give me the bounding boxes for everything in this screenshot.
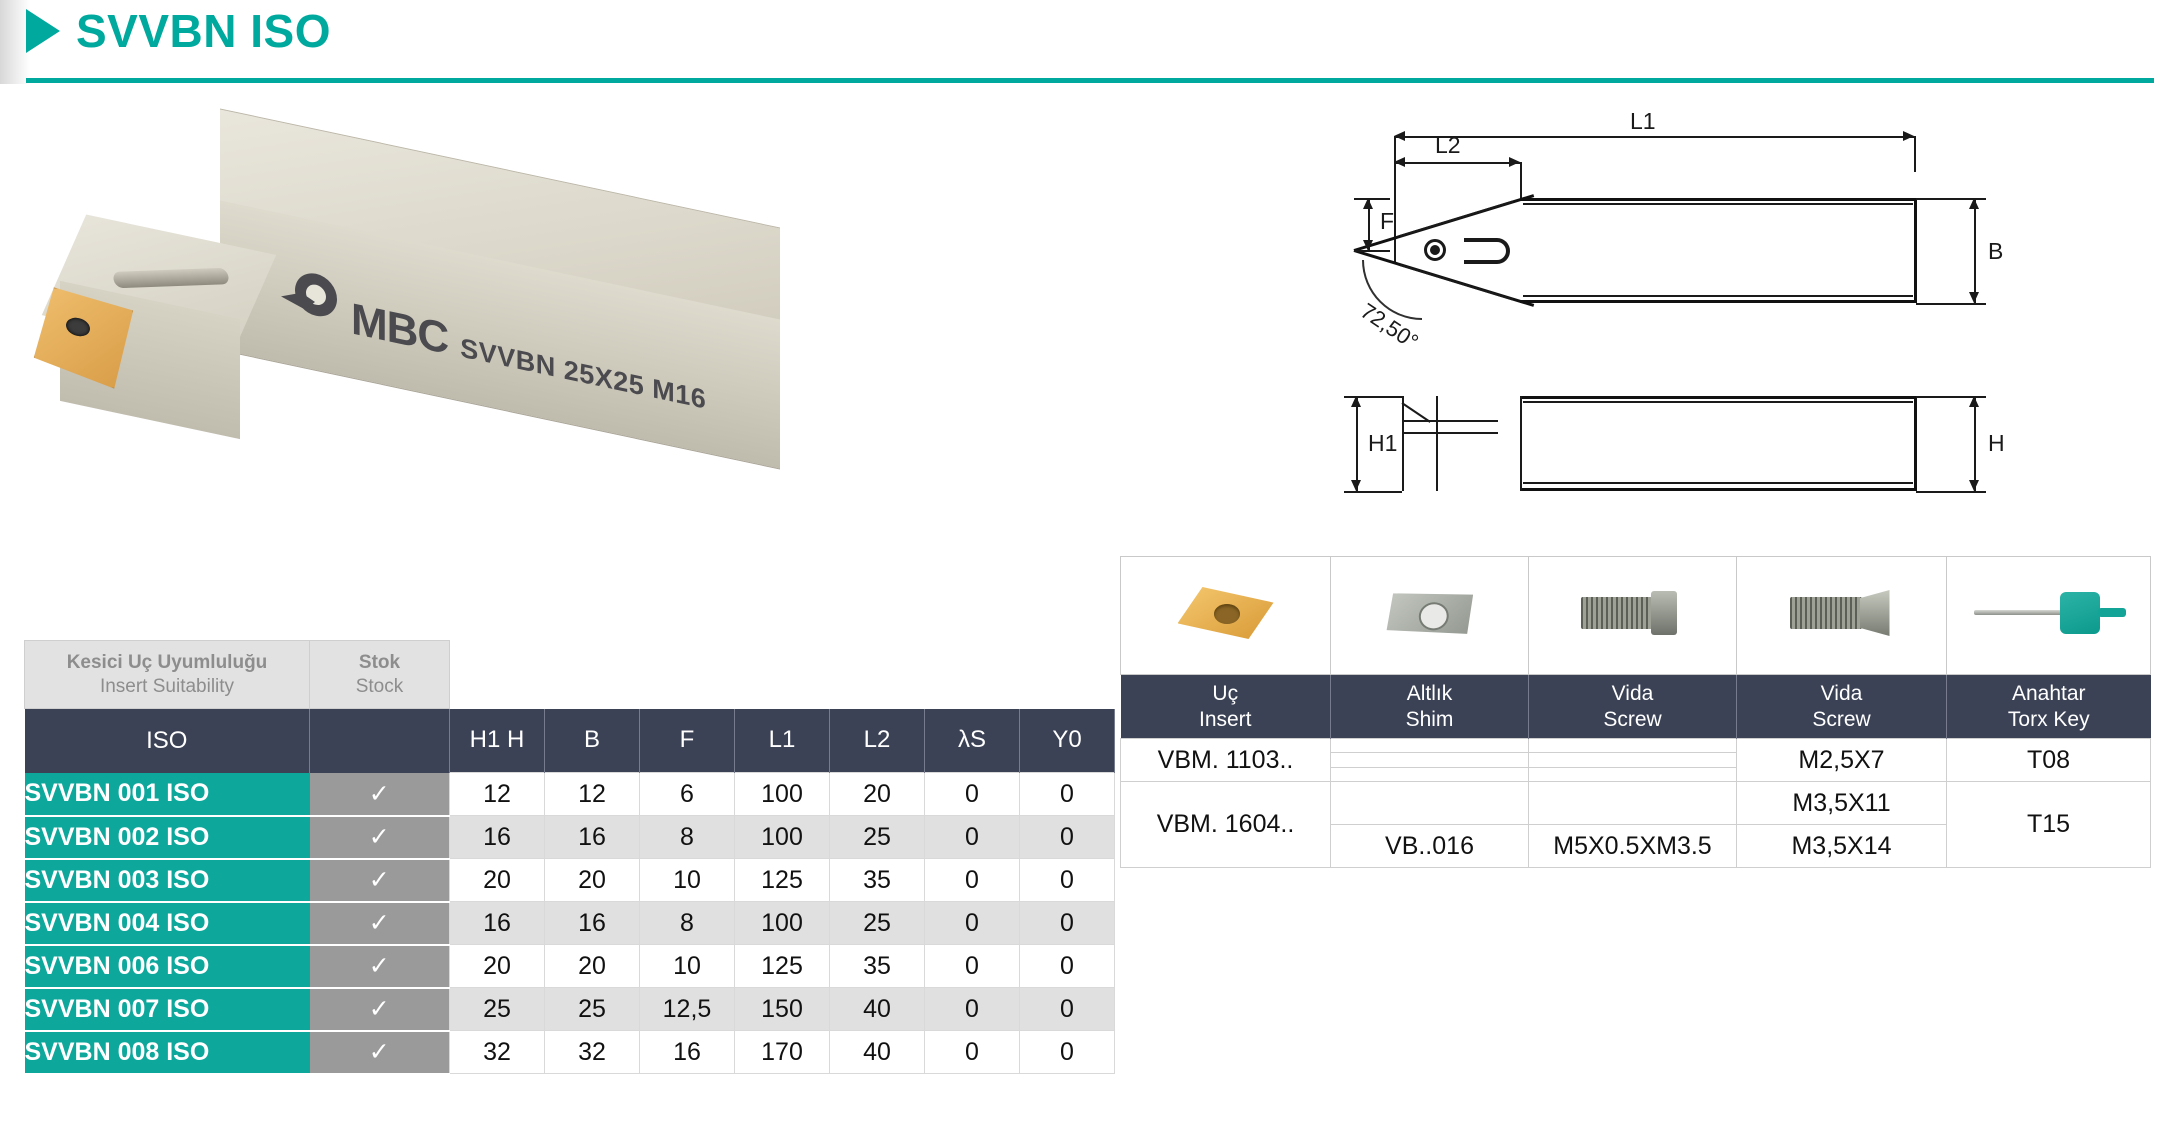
accessory-screw-b-1: M2,5X7 <box>1737 739 1947 782</box>
row-l1: 125 <box>735 859 830 902</box>
play-triangle-icon <box>26 9 60 53</box>
row-h1h: 16 <box>450 902 545 945</box>
column-header-b: B <box>545 709 640 773</box>
shim-plate-icon <box>1374 571 1485 654</box>
l2-label: L2 <box>1435 132 1461 159</box>
column-header-ls: λS <box>925 709 1020 773</box>
accessory-torx-1: T08 <box>1947 739 2151 782</box>
side-pocket-bottom <box>1402 432 1498 434</box>
row-stock: ✓ <box>310 1031 450 1074</box>
column-header-f: F <box>640 709 735 773</box>
accessory-shim-empty <box>1331 767 1529 781</box>
row-l2: 25 <box>830 902 925 945</box>
threaded-screw-icon <box>1581 595 1685 631</box>
row-f: 8 <box>640 902 735 945</box>
l2-dimension-line <box>1394 162 1520 164</box>
product-photo: MBC SVVBN 25X25 M16 <box>20 140 840 540</box>
accessory-image-torx <box>1947 557 2151 675</box>
accessory-header-screw-b: Vida Screw <box>1737 675 1947 739</box>
insert-suitability-header: Kesici Uç Uyumluluğu Insert Suitability <box>25 641 310 709</box>
row-ls: 0 <box>925 816 1020 859</box>
accessory-header-screw-a-en: Screw <box>1529 707 1736 732</box>
row-ls: 0 <box>925 1031 1020 1074</box>
row-h1h: 25 <box>450 988 545 1031</box>
accessory-shim-empty <box>1331 782 1529 825</box>
row-stock: ✓ <box>310 945 450 988</box>
l2-arrow-left <box>1394 157 1405 167</box>
header-divider <box>26 78 2154 83</box>
column-header-stock <box>310 709 450 773</box>
accessory-image-screw-a <box>1529 557 1737 675</box>
b-arrow-up <box>1969 198 1979 209</box>
row-l1: 100 <box>735 773 830 816</box>
accessory-header-insert-tr: Uç <box>1121 681 1331 706</box>
table-row[interactable]: SVVBN 006 ISO ✓ 20 20 10 125 35 0 0 <box>25 945 1115 988</box>
row-iso: SVVBN 007 ISO <box>25 988 310 1031</box>
row-y0: 0 <box>1020 902 1115 945</box>
row-iso: SVVBN 002 ISO <box>25 816 310 859</box>
row-y0: 0 <box>1020 988 1115 1031</box>
table-row[interactable]: SVVBN 001 ISO ✓ 12 12 6 100 20 0 0 <box>25 773 1115 816</box>
l1-label: L1 <box>1630 108 1656 135</box>
accessory-header-shim-tr: Altlık <box>1331 681 1528 706</box>
column-header-h1h: H1 H <box>450 709 545 773</box>
accessory-screw-b-3: M3,5X14 <box>1737 825 1947 868</box>
accessory-shim-empty <box>1331 739 1529 753</box>
row-stock: ✓ <box>310 816 450 859</box>
row-f: 6 <box>640 773 735 816</box>
l1-dimension-line <box>1394 136 1914 138</box>
h-arrow-up <box>1969 396 1979 407</box>
suitability-spacer <box>450 641 1115 709</box>
f-ext-top <box>1354 198 1390 200</box>
row-iso: SVVBN 001 ISO <box>25 773 310 816</box>
column-header-l2: L2 <box>830 709 925 773</box>
row-y0: 0 <box>1020 816 1115 859</box>
row-f: 12,5 <box>640 988 735 1031</box>
row-y0: 0 <box>1020 773 1115 816</box>
accessory-insert-group-1: VBM. 1103.. <box>1121 739 1331 782</box>
accessory-shim-empty <box>1331 753 1529 767</box>
row-f: 10 <box>640 859 735 902</box>
row-b: 25 <box>545 988 640 1031</box>
accessory-image-insert <box>1121 557 1331 675</box>
row-iso: SVVBN 004 ISO <box>25 902 310 945</box>
stock-header: Stok Stock <box>310 641 450 709</box>
side-pocket-top <box>1402 420 1498 422</box>
accessory-image-shim <box>1331 557 1529 675</box>
row-ls: 0 <box>925 945 1020 988</box>
table-row[interactable]: SVVBN 002 ISO ✓ 16 16 8 100 25 0 0 <box>25 816 1115 859</box>
side-bottom-edge <box>1520 488 1916 491</box>
row-l1: 150 <box>735 988 830 1031</box>
head-pocket-upper <box>1400 201 1513 237</box>
row-h1h: 20 <box>450 859 545 902</box>
row-b: 20 <box>545 945 640 988</box>
accessory-header-screw-a-tr: Vida <box>1529 681 1736 706</box>
clamp-loop-icon <box>1464 238 1510 264</box>
accessory-header-row: Uç Insert Altlık Shim Vida Screw Vida Sc… <box>1121 675 2151 739</box>
shank-top-edge <box>1520 198 1916 201</box>
row-ls: 0 <box>925 902 1020 945</box>
accessory-header-screw-b-en: Screw <box>1737 707 1946 732</box>
table-row[interactable]: SVVBN 004 ISO ✓ 16 16 8 100 25 0 0 <box>25 902 1115 945</box>
b-ext-top <box>1916 198 1986 200</box>
row-l2: 40 <box>830 988 925 1031</box>
column-header-y0: Y0 <box>1020 709 1115 773</box>
row-l1: 125 <box>735 945 830 988</box>
row-iso: SVVBN 003 ISO <box>25 859 310 902</box>
carbide-insert-icon <box>1178 587 1274 639</box>
side-right-edge <box>1914 396 1917 491</box>
row-h1h: 20 <box>450 945 545 988</box>
suitability-header-row: Kesici Uç Uyumluluğu Insert Suitability … <box>25 641 1115 709</box>
f-ext-bottom <box>1354 250 1390 252</box>
f-label: F <box>1380 208 1394 235</box>
stock-tr: Stok <box>310 651 449 675</box>
f-arrow-up <box>1363 198 1373 209</box>
page-title: SVVBN ISO <box>76 8 331 54</box>
accessory-image-row <box>1121 557 2151 675</box>
l2-ext-right <box>1520 162 1522 200</box>
accessory-header-shim-en: Shim <box>1331 707 1528 732</box>
eagle-gear-logo-icon <box>285 265 339 330</box>
h-label: H <box>1988 430 2005 457</box>
accessory-shim: VB..016 <box>1331 825 1529 868</box>
accessory-screw-a-empty <box>1529 739 1737 753</box>
h1-arrow-up <box>1351 396 1361 407</box>
h-dimension-line <box>1974 396 1976 491</box>
l1-ext-left <box>1394 136 1396 264</box>
accessory-table: Uç Insert Altlık Shim Vida Screw Vida Sc… <box>1120 556 2151 868</box>
row-iso: SVVBN 008 ISO <box>25 1031 310 1074</box>
accessory-screw-b-2: M3,5X11 <box>1737 782 1947 825</box>
shank-inner-top <box>1523 203 1913 205</box>
shank-right-edge <box>1914 198 1917 303</box>
countersunk-screw-icon <box>1790 595 1894 631</box>
h-ext-top <box>1916 396 1986 398</box>
row-b: 12 <box>545 773 640 816</box>
accessory-insert-group-2: VBM. 1604.. <box>1121 782 1331 868</box>
column-header-l1: L1 <box>735 709 830 773</box>
accessory-screw-a-empty <box>1529 782 1737 825</box>
h1-dimension-line <box>1356 396 1358 491</box>
row-b: 16 <box>545 902 640 945</box>
row-l2: 35 <box>830 859 925 902</box>
accessory-torx-2: T15 <box>1947 782 2151 868</box>
row-l1: 170 <box>735 1031 830 1074</box>
insert-suitability-tr: Kesici Uç Uyumluluğu <box>25 651 309 675</box>
page-header: SVVBN ISO <box>0 0 2178 84</box>
row-y0: 0 <box>1020 859 1115 902</box>
row-l2: 35 <box>830 945 925 988</box>
table-row[interactable]: SVVBN 008 ISO ✓ 32 32 16 170 40 0 0 <box>25 1031 1115 1074</box>
column-header-iso: ISO <box>25 709 310 773</box>
accessory-screw-a-empty <box>1529 753 1737 767</box>
side-inner-top <box>1523 401 1913 403</box>
row-l1: 100 <box>735 902 830 945</box>
row-y0: 0 <box>1020 1031 1115 1074</box>
row-f: 8 <box>640 816 735 859</box>
accessory-header-torx-tr: Anahtar <box>1947 681 2151 706</box>
row-b: 32 <box>545 1031 640 1074</box>
row-stock: ✓ <box>310 773 450 816</box>
stock-en: Stock <box>310 675 449 699</box>
row-h1h: 32 <box>450 1031 545 1074</box>
row-y0: 0 <box>1020 945 1115 988</box>
accessory-header-shim: Altlık Shim <box>1331 675 1529 739</box>
row-b: 20 <box>545 859 640 902</box>
row-h1h: 16 <box>450 816 545 859</box>
row-ls: 0 <box>925 859 1020 902</box>
l1-ext-right <box>1914 136 1916 172</box>
row-h1h: 12 <box>450 773 545 816</box>
side-nose-left <box>1402 396 1404 491</box>
accessory-header-insert-en: Insert <box>1121 707 1331 732</box>
row-ls: 0 <box>925 773 1020 816</box>
row-l2: 20 <box>830 773 925 816</box>
b-dimension-line <box>1974 198 1976 303</box>
l2-arrow-right <box>1509 157 1520 167</box>
accessory-header-insert: Uç Insert <box>1121 675 1331 739</box>
row-ls: 0 <box>925 988 1020 1031</box>
row-l2: 40 <box>830 1031 925 1074</box>
accessory-row[interactable]: VBM. 1604.. M3,5X11 T15 <box>1121 782 2151 825</box>
h1-arrow-down <box>1351 480 1361 491</box>
side-step-right <box>1520 396 1522 491</box>
specification-table: Kesici Uç Uyumluluğu Insert Suitability … <box>24 640 1115 1075</box>
table-row[interactable]: SVVBN 007 ISO ✓ 25 25 12,5 150 40 0 0 <box>25 988 1115 1031</box>
row-stock: ✓ <box>310 988 450 1031</box>
accessory-header-torx: Anahtar Torx Key <box>1947 675 2151 739</box>
technical-drawings: L1 L2 F B 72,50° H1 <box>1340 110 2160 530</box>
row-b: 16 <box>545 816 640 859</box>
accessory-header-torx-en: Torx Key <box>1947 707 2151 732</box>
row-iso: SVVBN 006 ISO <box>25 945 310 988</box>
h1-ext-bottom <box>1344 491 1402 493</box>
b-ext-bottom <box>1916 303 1986 305</box>
side-top-edge <box>1520 396 1916 399</box>
accessory-header-screw-a: Vida Screw <box>1529 675 1737 739</box>
column-header-row: ISO H1 H B F L1 L2 λS Y0 <box>25 709 1115 773</box>
l1-arrow-left <box>1394 131 1405 141</box>
table-row[interactable]: SVVBN 003 ISO ✓ 20 20 10 125 35 0 0 <box>25 859 1115 902</box>
accessory-row[interactable]: VBM. 1103.. M2,5X7 T08 <box>1121 739 2151 753</box>
l1-arrow-right <box>1903 131 1914 141</box>
h-arrow-down <box>1969 480 1979 491</box>
accessory-screw-a: M5X0.5XM3.5 <box>1529 825 1737 868</box>
row-stock: ✓ <box>310 859 450 902</box>
row-stock: ✓ <box>310 902 450 945</box>
h1-label: H1 <box>1368 430 1397 457</box>
shank-inner-bottom <box>1523 295 1913 297</box>
h-ext-bottom <box>1916 491 1986 493</box>
accessory-image-screw-b <box>1737 557 1947 675</box>
torx-key-icon <box>1974 588 2124 638</box>
row-l1: 100 <box>735 816 830 859</box>
row-f: 16 <box>640 1031 735 1074</box>
insert-suitability-en: Insert Suitability <box>25 675 309 699</box>
accessory-screw-a-empty <box>1529 767 1737 781</box>
side-inner-bottom <box>1523 482 1913 484</box>
row-f: 10 <box>640 945 735 988</box>
b-arrow-down <box>1969 292 1979 303</box>
h1-ext-top <box>1344 396 1402 398</box>
row-l2: 25 <box>830 816 925 859</box>
side-step-left <box>1436 396 1438 491</box>
b-label: B <box>1988 238 2003 265</box>
insert-screw-center <box>1430 245 1440 255</box>
accessory-header-screw-b-tr: Vida <box>1737 681 1946 706</box>
shank-bottom-edge <box>1520 300 1916 303</box>
